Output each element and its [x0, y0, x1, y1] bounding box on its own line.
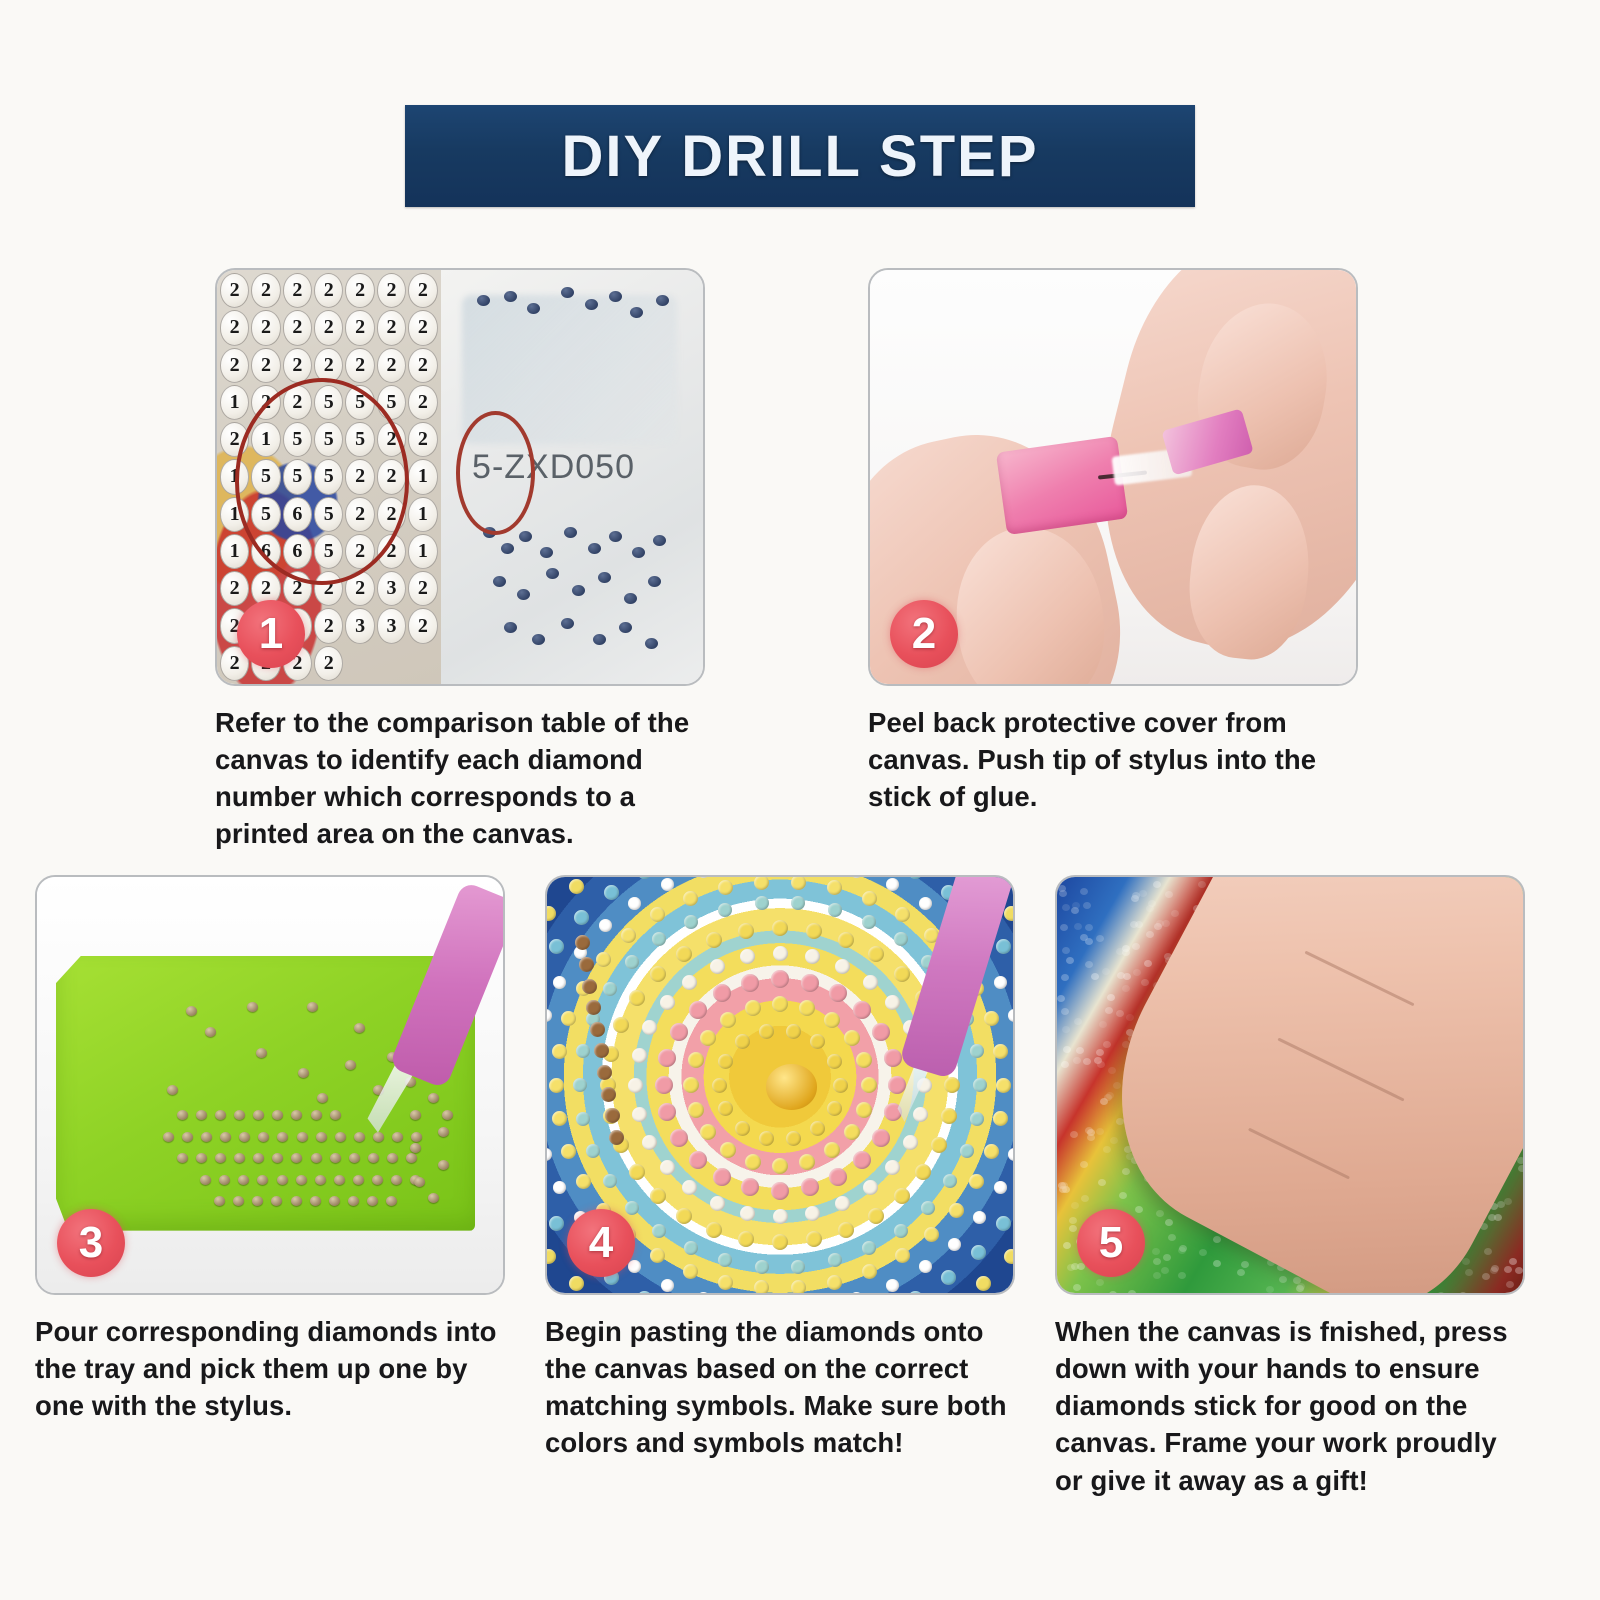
- diamond-speckle: [1178, 1247, 1186, 1254]
- mandala-gem-dot: [553, 1181, 566, 1194]
- mandala-gem-dot: [791, 1280, 806, 1293]
- mandala-gem-dot: [801, 1178, 819, 1196]
- diamond-speckle: [1085, 924, 1093, 931]
- mandala-gem-dot: [594, 1043, 609, 1058]
- diamond-speckle: [1061, 1008, 1069, 1015]
- step-3-caption: Pour corresponding diamonds into the tra…: [35, 1313, 505, 1424]
- diamond-bead: [598, 572, 611, 583]
- diamond-speckle: [1076, 1047, 1084, 1054]
- diamond-bead: [504, 622, 517, 633]
- mandala-gem-dot: [683, 1077, 699, 1093]
- mandala-gem-dot: [924, 1227, 939, 1242]
- diamond-speckle: [1504, 1198, 1512, 1205]
- diamond-speckle: [1066, 957, 1074, 964]
- canvas-number-dot: 2: [408, 422, 437, 457]
- mandala-gem-dot: [547, 906, 556, 921]
- diamond-bead: [272, 1153, 283, 1163]
- mandala-gem-dot: [745, 1154, 761, 1170]
- canvas-number-dot: 1: [220, 459, 249, 494]
- diamond-speckle: [1165, 891, 1173, 898]
- mandala-gem-dot: [1008, 1148, 1013, 1161]
- canvas-number-dot: 5: [314, 385, 343, 420]
- center-gem: [766, 1064, 817, 1110]
- red-ellipse-icon: [456, 411, 535, 535]
- mandala-gem-dot: [759, 1131, 774, 1146]
- diamond-speckle: [1096, 1128, 1104, 1135]
- mandala-gem-dot: [605, 1108, 620, 1123]
- mandala-gem-dot: [1003, 1287, 1013, 1293]
- diamond-speckle: [1153, 881, 1161, 888]
- canvas-number-dot: 5: [283, 422, 312, 457]
- diamond-speckle: [1096, 1279, 1104, 1286]
- mandala-gem-dot: [688, 1102, 704, 1118]
- diamond-bead: [527, 303, 540, 314]
- mandala-gem-dot: [973, 1211, 986, 1224]
- mandala-gem-dot: [755, 896, 769, 910]
- mandala-gem-dot: [799, 1154, 815, 1170]
- mandala-gem-dot: [754, 877, 769, 890]
- mandala-gem-dot: [697, 1292, 710, 1293]
- canvas-number-dot: 5: [314, 422, 343, 457]
- page-title: DIY DRILL STEP: [561, 123, 1038, 190]
- mandala-gem-dot: [853, 1001, 871, 1019]
- infographic-page: DIY DRILL STEP 2222222222222222222221225…: [0, 0, 1600, 1600]
- diamond-bead: [373, 1132, 384, 1142]
- diamond-speckle: [1069, 1217, 1077, 1224]
- mandala-gem-dot: [712, 1078, 727, 1093]
- mandala-gem-dot: [735, 1121, 750, 1136]
- mandala-gem-dot: [827, 880, 842, 895]
- diamond-speckle: [1081, 1195, 1089, 1202]
- diamond-bead: [317, 1093, 328, 1103]
- canvas-number-dot: 6: [251, 534, 280, 569]
- diamond-speckle: [1104, 1094, 1112, 1101]
- diamond-speckle: [1063, 1242, 1071, 1249]
- diamond-bead: [291, 1110, 302, 1120]
- canvas-number-dot: 5: [251, 459, 280, 494]
- diamond-speckle: [1163, 1254, 1171, 1261]
- diamond-bead: [200, 1175, 211, 1185]
- mandala-gem-dot: [613, 1017, 629, 1033]
- mandala-gem-dot: [601, 1087, 616, 1102]
- mandala-gem-dot: [868, 946, 884, 962]
- canvas-number-dot: 2: [408, 310, 437, 345]
- mandala-gem-dot: [827, 1275, 842, 1290]
- diamond-speckle: [1165, 1219, 1173, 1226]
- mandala-gem-dot: [670, 1023, 688, 1041]
- diamond-bead: [330, 1153, 341, 1163]
- diamond-speckle: [1057, 995, 1065, 1002]
- diamond-bead: [334, 1175, 345, 1185]
- diamond-speckle: [1144, 960, 1152, 967]
- diamond-bead: [219, 1175, 230, 1185]
- diamond-bead: [561, 618, 574, 629]
- diamond-bead: [234, 1153, 245, 1163]
- diamond-bead: [277, 1132, 288, 1142]
- mandala-gem-dot: [872, 1129, 890, 1147]
- canvas-number-dot: 2: [220, 310, 249, 345]
- mandala-gem-dot: [718, 903, 732, 917]
- diamond-speckle: [1110, 1137, 1118, 1144]
- diamond-bead: [532, 634, 545, 645]
- diamond-speckle: [1146, 931, 1154, 938]
- diamond-bead: [297, 1132, 308, 1142]
- diamond-bead: [253, 1153, 264, 1163]
- diamond-speckle: [1073, 1057, 1081, 1064]
- mandala-gem-dot: [596, 952, 611, 967]
- diamond-bead: [238, 1175, 249, 1185]
- diamond-bead: [239, 1132, 250, 1142]
- diamond-bead: [353, 1175, 364, 1185]
- step-5-image: 5: [1055, 875, 1525, 1295]
- diamond-speckle: [1213, 1236, 1221, 1243]
- step-5-caption: When the canvas is fnished, press down w…: [1055, 1313, 1525, 1499]
- mandala-gem-dot: [658, 1049, 676, 1067]
- mandala-gem-dot: [700, 1030, 716, 1046]
- diamond-bead: [307, 1002, 318, 1012]
- diamond-speckle: [1135, 1206, 1143, 1213]
- mandala-gem-dot: [660, 1160, 675, 1175]
- diamond-speckle: [1119, 1192, 1127, 1199]
- mandala-gem-dot: [844, 1030, 860, 1046]
- mandala-gem-dot: [655, 1076, 673, 1094]
- mandala-gem-dot: [688, 1052, 704, 1068]
- canvas-number-dot: 2: [377, 497, 406, 532]
- diamond-bead: [177, 1153, 188, 1163]
- diamond-bead: [329, 1196, 340, 1206]
- diamond-speckle: [1148, 900, 1156, 907]
- diamond-speckle: [1096, 935, 1104, 942]
- canvas-number-dot: 2: [377, 273, 406, 308]
- diamond-speckle: [1074, 923, 1082, 930]
- diamond-bead: [619, 622, 632, 633]
- diamond-speckle: [1096, 1049, 1104, 1056]
- diamond-bead: [572, 585, 585, 596]
- mandala-gem-dot: [582, 979, 597, 994]
- mandala-gem-dot: [738, 923, 754, 939]
- diamond-speckle: [1083, 1058, 1091, 1065]
- mandala-gem-dot: [1004, 906, 1013, 921]
- diamond-bead: [368, 1153, 379, 1163]
- diamond-speckle: [1063, 1046, 1071, 1053]
- mandala-gem-dot: [609, 1130, 624, 1145]
- mandala-gem-dot: [755, 1260, 769, 1274]
- mandala-gem-dot: [745, 1000, 761, 1016]
- diamond-speckle: [1109, 1291, 1117, 1293]
- diamond-speckle: [1490, 1267, 1498, 1274]
- mandala-gem-dot: [838, 1222, 854, 1238]
- step-4-caption: Begin pasting the diamonds onto the canv…: [545, 1313, 1015, 1462]
- canvas-number-dot: 3: [377, 608, 406, 643]
- canvas-number-dot: 2: [283, 571, 312, 606]
- diamond-bead: [291, 1196, 302, 1206]
- canvas-number-dot: 1: [251, 422, 280, 457]
- diamond-speckle: [1459, 1292, 1467, 1293]
- canvas-number-dot: 2: [220, 422, 249, 457]
- canvas-number-dot: 2: [377, 310, 406, 345]
- mandala-gem-dot: [919, 897, 932, 910]
- mandala-gem-dot: [810, 1034, 825, 1049]
- mandala-gem-dot: [949, 1203, 964, 1218]
- mandala-gem-dot: [700, 1124, 716, 1140]
- diamond-bead: [163, 1132, 174, 1142]
- step-badge-3: 3: [57, 1209, 125, 1277]
- canvas-number-dot: 5: [345, 422, 374, 457]
- mandala-gem-dot: [976, 1276, 991, 1291]
- diamond-speckle: [1198, 881, 1206, 888]
- mandala-gem-dot: [773, 1209, 788, 1224]
- glue-stick-cap: [996, 436, 1128, 535]
- mandala-gem-dot: [718, 1101, 733, 1116]
- diamond-bead: [609, 291, 622, 302]
- diamond-bead: [645, 638, 658, 649]
- mandala-gem-dot: [944, 1077, 960, 1093]
- diamond-speckle: [1074, 1018, 1082, 1025]
- mandala-gem-dot: [806, 923, 822, 939]
- mandala-gem-dot: [637, 877, 652, 879]
- mandala-gem-dot: [850, 877, 863, 878]
- diamond-speckle: [1085, 938, 1093, 945]
- diamond-speckle: [1107, 994, 1115, 1001]
- diamond-speckle: [1484, 1248, 1492, 1255]
- diamond-speckle: [1465, 1269, 1473, 1276]
- mandala-gem-dot: [689, 1001, 707, 1019]
- diamond-speckle: [1279, 1276, 1287, 1283]
- canvas-number-dot: 6: [283, 497, 312, 532]
- mandala-gem-dot: [741, 974, 759, 992]
- mandala-gem-dot: [771, 1182, 789, 1200]
- mandala-gem-dot: [549, 1216, 564, 1231]
- mandala-gem-dot: [984, 1011, 999, 1026]
- diamond-speckle: [1213, 1260, 1221, 1267]
- mandala-gem-dot: [547, 1009, 552, 1022]
- diamond-bead: [310, 1196, 321, 1206]
- mandala-gem-dot: [603, 982, 617, 996]
- mandala-gem-dot: [573, 1078, 587, 1092]
- diamond-speckle: [1515, 1267, 1523, 1274]
- diamond-speckle: [1266, 1286, 1274, 1293]
- diamond-speckle: [1059, 1186, 1067, 1193]
- mandala-gem-dot: [547, 1148, 552, 1161]
- mandala-gem-dot: [805, 949, 820, 964]
- diamond-speckle: [1482, 1273, 1490, 1280]
- canvas-number-dot: 1: [220, 497, 249, 532]
- mandala-gem-dot: [773, 946, 788, 961]
- mandala-gem-dot: [771, 970, 789, 988]
- mandala-gem-dot: [603, 1174, 617, 1188]
- diamond-speckle: [1062, 947, 1070, 954]
- mandala-gem-dot: [863, 975, 878, 990]
- mandala-gem-dot: [586, 1000, 601, 1015]
- diamond-bead: [387, 1153, 398, 1163]
- canvas-number-dot: 3: [345, 608, 374, 643]
- diamond-speckle: [1199, 1249, 1207, 1256]
- diamond-bead: [252, 1196, 263, 1206]
- mandala-gem-dot: [689, 1151, 707, 1169]
- diamond-speckle: [1494, 1214, 1502, 1221]
- diamond-bead: [215, 1153, 226, 1163]
- mandala-gem-dot: [894, 1224, 908, 1238]
- mandala-gem-dot: [828, 903, 842, 917]
- step-card-1: 2222222222222222222221225552215552215552…: [215, 268, 705, 853]
- canvas-number-dot: 2: [377, 534, 406, 569]
- canvas-number-dot: 6: [283, 534, 312, 569]
- canvas-number-dot: 2: [345, 497, 374, 532]
- mandala-gem-dot: [720, 1012, 736, 1028]
- mandala-gem-dot: [740, 949, 755, 964]
- mandala-gem-dot: [895, 1248, 910, 1263]
- diamond-bead: [653, 535, 666, 546]
- diamond-bead: [372, 1175, 383, 1185]
- mandala-gem-dot: [718, 1275, 733, 1290]
- mandala-gem-dot: [915, 1164, 931, 1180]
- diamond-speckle: [1168, 1234, 1176, 1241]
- canvas-number-dot: 5: [377, 385, 406, 420]
- canvas-number-dot: 1: [220, 534, 249, 569]
- mandala-gem-dot: [549, 939, 564, 954]
- diamond-bead: [186, 1006, 197, 1016]
- diamond-bead: [354, 1132, 365, 1142]
- canvas-number-dot: 2: [220, 273, 249, 308]
- diamond-speckle: [1080, 1161, 1088, 1168]
- diamond-bead: [196, 1110, 207, 1120]
- mandala-gem-dot: [791, 877, 806, 890]
- diamond-bead: [247, 1002, 258, 1012]
- diamond-speckle: [1161, 1267, 1169, 1274]
- mandala-gem-dot: [561, 1144, 576, 1159]
- canvas-number-dot: 2: [377, 459, 406, 494]
- canvas-number-dot: 1: [408, 459, 437, 494]
- diamond-speckle: [1083, 902, 1091, 909]
- mandala-gem-dot: [586, 1144, 600, 1158]
- step-card-2: 2 Peel back protective cover from canvas…: [868, 268, 1358, 815]
- diamond-bead: [182, 1132, 193, 1142]
- mandala-gem-dot: [886, 1279, 899, 1292]
- canvas-number-dot: 2: [314, 348, 343, 383]
- diamond-bead: [330, 1110, 341, 1120]
- diamond-speckle: [1237, 1269, 1245, 1276]
- mandala-gem-dot: [652, 1224, 666, 1238]
- diamond-speckle: [1091, 973, 1099, 980]
- diamond-speckle: [1128, 1290, 1136, 1293]
- diamond-bead: [414, 1177, 425, 1187]
- mandala-gem-dot: [632, 1107, 647, 1122]
- diamond-bead: [391, 1175, 402, 1185]
- diamond-speckle: [1152, 1248, 1160, 1255]
- mandala-gem-dot: [969, 1174, 984, 1189]
- mandala-gem-dot: [908, 1291, 923, 1293]
- diamond-bead: [167, 1085, 178, 1095]
- step-card-3: 3 Pour corresponding diamonds into the t…: [35, 875, 505, 1424]
- mandala-gem-dot: [996, 939, 1011, 954]
- diamond-bead: [519, 531, 532, 542]
- mandala-gem-dot: [993, 1111, 1008, 1126]
- canvas-number-dot: 1: [408, 534, 437, 569]
- mandala-gem-dot: [862, 891, 877, 906]
- diamond-bead: [256, 1048, 267, 1058]
- diamond-bead: [609, 531, 622, 542]
- mandala-gem-dot: [862, 1241, 876, 1255]
- diamond-bead: [354, 1023, 365, 1033]
- diamond-speckle: [1061, 974, 1069, 981]
- mandala-gem-dot: [833, 1078, 848, 1093]
- mandala-gem-dot: [713, 984, 731, 1002]
- diamond-speckle: [1509, 1258, 1517, 1265]
- mandala-gem-dot: [569, 879, 584, 894]
- step-badge-1: 1: [237, 600, 305, 668]
- mandala-gem-dot: [547, 877, 557, 883]
- mandala-gem-dot: [886, 878, 899, 891]
- mandala-gem-dot: [718, 1253, 732, 1267]
- mandala-gem-dot: [948, 1238, 961, 1251]
- mandala-gem-dot: [824, 1142, 840, 1158]
- diamond-speckle: [1517, 1157, 1523, 1164]
- canvas-number-dot: 2: [377, 348, 406, 383]
- mandala-gem-dot: [829, 984, 847, 1002]
- step-2-image: 2: [868, 268, 1358, 686]
- diamond-bead: [196, 1153, 207, 1163]
- mandala-gem-dot: [661, 878, 674, 891]
- diamond-speckle: [1102, 968, 1110, 975]
- mandala-gem-dot: [684, 915, 698, 929]
- mandala-gem-dot: [576, 1174, 591, 1189]
- mandala-gem-dot: [835, 959, 850, 974]
- mandala-gem-dot: [650, 1248, 665, 1263]
- mandala-gem-dot: [806, 1231, 822, 1247]
- diamond-speckle: [1139, 890, 1147, 897]
- canvas-number-dot: 2: [345, 534, 374, 569]
- mandala-gem-dot: [710, 959, 725, 974]
- diamond-bead: [386, 1196, 397, 1206]
- mandala-gem-dot: [625, 1201, 639, 1215]
- diamond-bead: [271, 1196, 282, 1206]
- mandala-gem-dot: [569, 1276, 584, 1291]
- diamond-bead: [349, 1153, 360, 1163]
- mandala-gem-dot: [720, 1142, 736, 1158]
- mandala-gem-dot: [1008, 1009, 1013, 1022]
- canvas-number-dot: 2: [314, 571, 343, 606]
- mandala-gem-dot: [604, 885, 619, 900]
- diamond-bead: [442, 1110, 453, 1120]
- canvas-number-dot: 2: [408, 571, 437, 606]
- diamond-speckle: [1069, 1225, 1077, 1232]
- step-card-4: 4 Begin pasting the diamonds onto the ca…: [545, 875, 1015, 1462]
- diamond-bead: [220, 1132, 231, 1142]
- mandala-gem-dot: [829, 1168, 847, 1186]
- mandala-gem-dot: [697, 877, 710, 878]
- mandala-gem-dot: [706, 932, 722, 948]
- diamond-speckle: [1462, 1258, 1470, 1265]
- diamond-bead: [367, 1196, 378, 1206]
- mandala-gem-dot: [628, 1078, 643, 1093]
- diamond-speckle: [1108, 1067, 1116, 1074]
- mandala-gem-dot: [970, 1044, 984, 1058]
- mandala-gem-dot: [738, 1231, 754, 1247]
- mandala-gem-dot: [791, 896, 805, 910]
- canvas-number-dot: 3: [377, 571, 406, 606]
- canvas-number-dot: 1: [408, 497, 437, 532]
- diamond-speckle: [1518, 1165, 1523, 1172]
- diamond-speckle: [1132, 943, 1140, 950]
- diamond-speckle: [1061, 1061, 1069, 1068]
- diamond-bead: [624, 593, 637, 604]
- mandala-gem-dot: [943, 1174, 957, 1188]
- mandala-gem-dot: [629, 1164, 645, 1180]
- diamond-bead: [501, 543, 514, 554]
- canvas-number-dot: 2: [283, 273, 312, 308]
- canvas-number-dot: 5: [314, 534, 343, 569]
- diamond-bead: [214, 1196, 225, 1206]
